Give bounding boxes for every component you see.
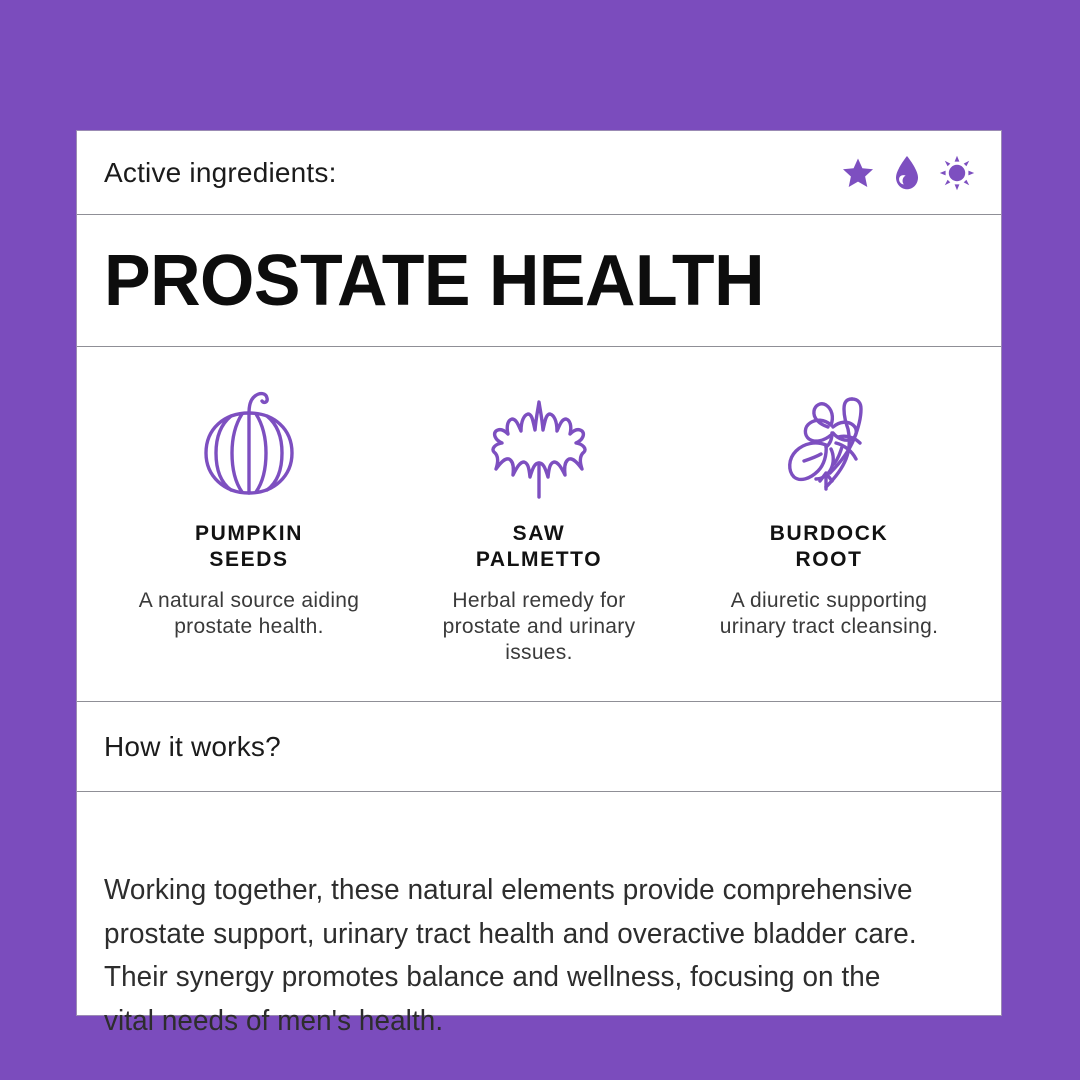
droplet-icon [893,155,921,191]
ingredient-card-saw-palmetto: SAW PALMETTO Herbal remedy for prostate … [394,389,684,666]
how-it-works-label: How it works? [104,731,281,763]
ingredient-name: BURDOCK ROOT [770,521,889,574]
sun-icon [939,155,975,191]
badge-icon-group [841,155,975,191]
ingredient-description: A diuretic supporting urinary tract clea… [704,588,954,641]
body-row: Working together, these natural elements… [77,792,1001,1072]
info-card: Active ingredients: [76,130,1002,1016]
title-row: PROSTATE HEALTH [77,215,1001,346]
active-ingredients-label: Active ingredients: [104,157,337,189]
ingredient-name: PUMPKIN SEEDS [195,521,303,574]
ingredient-card-pumpkin-seeds: PUMPKIN SEEDS A natural source aiding pr… [104,389,394,640]
pumpkin-icon [190,389,308,501]
palmetto-frond-icon [483,389,595,501]
star-icon [841,156,875,190]
how-it-works-row: How it works? [77,702,1001,791]
burdock-root-icon [776,389,882,501]
ingredient-name: SAW PALMETTO [476,521,602,574]
body-paragraph: Working together, these natural elements… [104,869,919,1043]
page-title: PROSTATE HEALTH [104,245,764,317]
ingredients-row: PUMPKIN SEEDS A natural source aiding pr… [77,347,1001,701]
ingredient-card-burdock-root: BURDOCK ROOT A diuretic supporting urina… [684,389,974,640]
active-ingredients-header: Active ingredients: [77,131,1001,214]
ingredient-description: Herbal remedy for prostate and urinary i… [414,588,664,667]
ingredient-description: A natural source aiding prostate health. [124,588,374,641]
